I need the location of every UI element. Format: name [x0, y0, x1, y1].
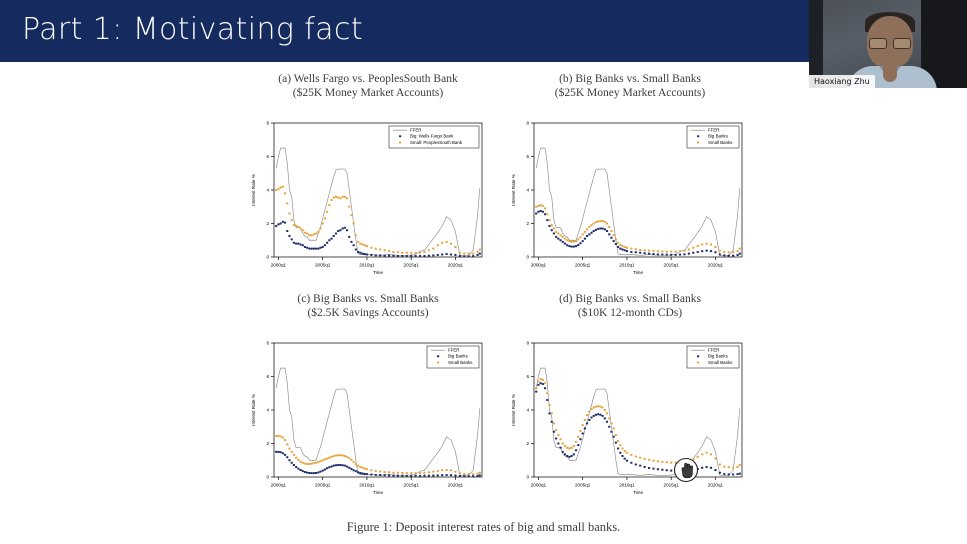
series-marker-small	[630, 248, 632, 250]
series-marker-small	[364, 244, 366, 246]
series-marker-big	[577, 444, 579, 446]
series-marker-small	[648, 250, 650, 252]
figure-container: (a) Wells Fargo vs. PeoplesSouth Bank ($…	[0, 62, 967, 544]
series-marker-small	[293, 224, 295, 226]
y-tick-label: 6	[526, 374, 529, 379]
series-marker-small	[648, 459, 650, 461]
legend-label: Small Banks	[708, 360, 733, 365]
series-marker-small	[624, 246, 626, 248]
series-marker-big	[463, 475, 465, 477]
series-marker-big	[719, 253, 721, 255]
series-marker-small	[661, 461, 663, 463]
series-marker-small	[476, 251, 478, 253]
chart-svg-d: 02468Interest Rate %2000q12005q12010q120…	[508, 337, 748, 499]
series-marker-small	[575, 240, 577, 242]
series-marker-small	[688, 248, 690, 250]
series-marker-small	[288, 448, 290, 450]
series-marker-big	[608, 426, 610, 428]
series-marker-small	[635, 248, 637, 250]
x-tick-label: 2015q1	[664, 483, 680, 488]
series-marker-big	[615, 442, 617, 444]
series-marker-big	[370, 254, 372, 256]
series-marker-big	[335, 464, 337, 466]
series-marker-big	[441, 474, 443, 476]
series-marker-big	[679, 254, 681, 256]
series-marker-small	[302, 462, 304, 464]
chart-svg-c: 02468Interest Rate %2000q12005q12010q120…	[248, 337, 488, 499]
series-marker-big	[548, 412, 550, 414]
legend-swatch-big	[399, 135, 401, 137]
series-marker-small	[315, 462, 317, 464]
series-marker-small	[739, 248, 741, 250]
series-marker-small	[423, 251, 425, 253]
series-marker-small	[582, 424, 584, 426]
series-marker-big	[330, 465, 332, 467]
series-marker-big	[644, 252, 646, 254]
legend-swatch-big	[697, 135, 699, 137]
series-marker-big	[666, 469, 668, 471]
y-tick-label: 0	[266, 255, 269, 260]
series-marker-big	[280, 223, 282, 225]
series-marker-small	[344, 455, 346, 457]
series-marker-small	[337, 454, 339, 456]
series-marker-big	[355, 248, 357, 250]
chart-panel-a[interactable]: 02468Interest Rate %2000q12005q12010q120…	[248, 117, 488, 279]
series-marker-small	[590, 408, 592, 410]
series-marker-big	[652, 468, 654, 470]
series-marker-small	[335, 455, 337, 457]
x-tick-label: 2000q1	[531, 263, 547, 268]
series-marker-small	[346, 197, 348, 199]
series-marker-small	[606, 223, 608, 225]
series-marker-big	[446, 474, 448, 476]
subplot-caption-b-line2: ($25K Money Market Accounts)	[505, 86, 755, 100]
series-marker-big	[557, 238, 559, 240]
subplot-caption-c-line2: ($2.5K Savings Accounts)	[243, 306, 493, 320]
series-marker-big	[401, 255, 403, 257]
series-marker-small	[313, 233, 315, 235]
series-marker-small	[566, 239, 568, 241]
series-marker-small	[571, 447, 573, 449]
series-marker-small	[559, 438, 561, 440]
chart-panel-c[interactable]: 02468Interest Rate %2000q12005q12010q120…	[248, 337, 488, 499]
series-marker-small	[346, 456, 348, 458]
series-marker-big	[588, 233, 590, 235]
x-tick-label: 2000q1	[531, 483, 547, 488]
series-marker-big	[306, 472, 308, 474]
series-marker-small	[339, 197, 341, 199]
chart-panel-d[interactable]: 02468Interest Rate %2000q12005q12010q120…	[508, 337, 748, 499]
y-tick-label: 0	[526, 255, 529, 260]
series-marker-big	[350, 468, 352, 470]
series-marker-big	[606, 230, 608, 232]
series-marker-big	[419, 255, 421, 257]
series-marker-small	[675, 251, 677, 253]
series-marker-small	[670, 251, 672, 253]
y-tick-label: 6	[266, 374, 269, 379]
series-marker-small	[288, 212, 290, 214]
series-marker-small	[604, 221, 606, 223]
series-marker-small	[590, 224, 592, 226]
series-marker-big	[364, 253, 366, 255]
series-marker-small	[384, 471, 386, 473]
series-marker-small	[546, 213, 548, 215]
series-marker-small	[472, 473, 474, 475]
series-marker-small	[333, 455, 335, 457]
series-marker-small	[370, 247, 372, 249]
series-marker-big	[688, 470, 690, 472]
series-marker-big	[293, 242, 295, 244]
series-marker-small	[459, 252, 461, 254]
series-marker-big	[577, 244, 579, 246]
series-marker-big	[548, 225, 550, 227]
series-marker-small	[557, 434, 559, 436]
series-marker-big	[675, 254, 677, 256]
series-marker-big	[714, 469, 716, 471]
series-marker-small	[295, 457, 297, 459]
series-marker-small	[353, 223, 355, 225]
series-marker-small	[361, 243, 363, 245]
x-tick-label: 2000q1	[271, 263, 287, 268]
series-marker-big	[446, 253, 448, 255]
legend-swatch-big	[697, 355, 699, 357]
series-marker-small	[315, 233, 317, 235]
series-marker-small	[710, 243, 712, 245]
series-marker-small	[597, 220, 599, 222]
legend-label: Big Banks	[708, 134, 729, 139]
series-marker-big	[593, 230, 595, 232]
series-marker-big	[392, 474, 394, 476]
chart-svg-b: 02468Interest Rate %2000q12005q12010q120…	[508, 117, 748, 279]
series-marker-big	[288, 459, 290, 461]
series-marker-big	[692, 252, 694, 254]
series-marker-big	[280, 451, 282, 453]
series-marker-big	[284, 454, 286, 456]
x-axis-title: Time	[633, 270, 643, 275]
series-marker-small	[423, 472, 425, 474]
series-marker-big	[328, 239, 330, 241]
y-axis-title: Interest Rate %	[251, 394, 256, 426]
series-marker-small	[397, 251, 399, 253]
series-marker-small	[275, 435, 277, 437]
y-tick-label: 8	[526, 121, 529, 126]
series-marker-small	[679, 462, 681, 464]
series-marker-big	[454, 254, 456, 256]
series-marker-big	[330, 238, 332, 240]
series-marker-small	[661, 250, 663, 252]
series-marker-big	[302, 470, 304, 472]
series-marker-small	[542, 379, 544, 381]
series-marker-big	[286, 230, 288, 232]
x-tick-label: 2010q1	[619, 263, 635, 268]
series-marker-small	[593, 406, 595, 408]
series-marker-big	[308, 248, 310, 250]
y-tick-label: 8	[266, 341, 269, 346]
series-marker-small	[692, 247, 694, 249]
series-marker-big	[353, 244, 355, 246]
series-marker-big	[602, 228, 604, 230]
y-tick-label: 4	[526, 408, 529, 413]
series-marker-small	[359, 466, 361, 468]
series-marker-small	[419, 472, 421, 474]
series-marker-big	[384, 474, 386, 476]
series-marker-big	[415, 475, 417, 477]
series-marker-big	[339, 229, 341, 231]
series-marker-small	[723, 466, 725, 468]
series-marker-small	[401, 472, 403, 474]
series-marker-big	[333, 465, 335, 467]
series-marker-big	[397, 475, 399, 477]
series-marker-big	[432, 254, 434, 256]
series-marker-small	[544, 207, 546, 209]
series-marker-big	[604, 228, 606, 230]
series-marker-big	[284, 222, 286, 224]
series-marker-big	[277, 451, 279, 453]
x-tick-label: 2010q1	[359, 263, 375, 268]
y-tick-label: 8	[266, 121, 269, 126]
series-marker-small	[615, 238, 617, 240]
series-marker-small	[739, 464, 741, 466]
series-marker-big	[344, 465, 346, 467]
series-marker-small	[410, 472, 412, 474]
y-tick-label: 0	[526, 475, 529, 480]
series-marker-big	[322, 470, 324, 472]
series-marker-small	[606, 412, 608, 414]
series-marker-small	[732, 467, 734, 469]
series-marker-big	[339, 464, 341, 466]
series-marker-big	[666, 254, 668, 256]
series-marker-big	[342, 228, 344, 230]
series-marker-big	[610, 431, 612, 433]
series-marker-small	[564, 445, 566, 447]
series-marker-big	[415, 255, 417, 257]
series-marker-small	[348, 206, 350, 208]
series-marker-big	[311, 248, 313, 250]
series-marker-big	[657, 468, 659, 470]
series-marker-big	[586, 235, 588, 237]
series-marker-small	[683, 250, 685, 252]
series-marker-small	[562, 236, 564, 238]
x-tick-label: 2005q1	[315, 483, 331, 488]
series-marker-big	[355, 470, 357, 472]
series-marker-big	[342, 464, 344, 466]
series-marker-big	[437, 474, 439, 476]
series-marker-big	[319, 471, 321, 473]
series-marker-big	[324, 244, 326, 246]
legend-swatch-small	[697, 362, 699, 364]
series-marker-big	[546, 219, 548, 221]
series-marker-small	[335, 196, 337, 198]
series-marker-small	[535, 206, 537, 208]
series-marker-small	[719, 250, 721, 252]
series-marker-big	[346, 466, 348, 468]
series-marker-big	[706, 250, 708, 252]
x-tick-label: 2015q1	[404, 263, 420, 268]
series-marker-big	[282, 221, 284, 223]
series-marker-big	[597, 228, 599, 230]
series-marker-small	[275, 189, 277, 191]
series-marker-small	[573, 241, 575, 243]
series-marker-big	[575, 449, 577, 451]
series-marker-small	[586, 414, 588, 416]
series-marker-big	[670, 254, 672, 256]
series-marker-small	[415, 252, 417, 254]
series-marker-big	[584, 427, 586, 429]
series-marker-big	[315, 248, 317, 250]
series-marker-big	[736, 473, 738, 475]
series-marker-big	[586, 422, 588, 424]
series-marker-big	[619, 452, 621, 454]
series-marker-small	[710, 453, 712, 455]
series-marker-small	[595, 406, 597, 408]
series-marker-big	[423, 255, 425, 257]
series-marker-big	[388, 474, 390, 476]
series-marker-small	[692, 458, 694, 460]
series-marker-big	[361, 253, 363, 255]
series-marker-big	[537, 384, 539, 386]
series-marker-small	[610, 422, 612, 424]
series-marker-small	[621, 448, 623, 450]
series-marker-small	[366, 245, 368, 247]
series-marker-small	[630, 454, 632, 456]
series-marker-big	[275, 225, 277, 227]
series-marker-big	[295, 466, 297, 468]
subplot-caption-a-line2: ($25K Money Market Accounts)	[243, 86, 493, 100]
series-marker-big	[410, 475, 412, 477]
y-tick-label: 2	[526, 441, 529, 446]
x-axis-title: Time	[373, 270, 383, 275]
series-marker-small	[546, 392, 548, 394]
series-marker-small	[333, 197, 335, 199]
series-marker-small	[540, 378, 542, 380]
series-marker-big	[406, 475, 408, 477]
series-marker-big	[326, 467, 328, 469]
chart-panel-b[interactable]: 02468Interest Rate %2000q12005q12010q120…	[508, 117, 748, 279]
series-marker-big	[619, 248, 621, 250]
series-marker-big	[626, 460, 628, 462]
series-marker-big	[575, 245, 577, 247]
series-marker-big	[624, 458, 626, 460]
series-marker-big	[333, 235, 335, 237]
series-marker-big	[299, 243, 301, 245]
series-marker-big	[353, 469, 355, 471]
series-marker-small	[639, 457, 641, 459]
series-marker-small	[348, 457, 350, 459]
series-marker-small	[410, 252, 412, 254]
series-marker-small	[366, 468, 368, 470]
series-marker-big	[304, 246, 306, 248]
series-marker-big	[606, 421, 608, 423]
series-marker-small	[441, 469, 443, 471]
series-marker-small	[714, 246, 716, 248]
series-marker-small	[406, 252, 408, 254]
series-marker-small	[297, 459, 299, 461]
x-tick-label: 2010q1	[359, 483, 375, 488]
series-marker-big	[551, 421, 553, 423]
series-marker-small	[463, 253, 465, 255]
series-marker-small	[586, 228, 588, 230]
series-marker-big	[582, 240, 584, 242]
series-marker-small	[428, 471, 430, 473]
series-marker-small	[392, 251, 394, 253]
series-marker-small	[548, 404, 550, 406]
y-tick-label: 4	[526, 188, 529, 193]
series-marker-small	[328, 457, 330, 459]
series-marker-big	[432, 474, 434, 476]
series-marker-small	[388, 471, 390, 473]
series-marker-small	[308, 463, 310, 465]
series-marker-small	[468, 473, 470, 475]
x-axis-title: Time	[373, 490, 383, 495]
series-marker-big	[291, 462, 293, 464]
series-marker-big	[388, 255, 390, 257]
y-axis-title: Interest Rate %	[511, 394, 516, 426]
series-marker-small	[361, 467, 363, 469]
series-marker-small	[342, 196, 344, 198]
series-marker-small	[319, 460, 321, 462]
series-marker-small	[277, 188, 279, 190]
series-marker-big	[602, 415, 604, 417]
series-marker-small	[675, 462, 677, 464]
series-marker-big	[454, 474, 456, 476]
x-tick-label: 2015q1	[664, 263, 680, 268]
series-marker-big	[297, 468, 299, 470]
series-marker-big	[476, 254, 478, 256]
series-marker-small	[317, 461, 319, 463]
series-marker-big	[302, 244, 304, 246]
series-marker-small	[615, 434, 617, 436]
series-marker-small	[324, 458, 326, 460]
series-marker-big	[566, 244, 568, 246]
series-marker-big	[571, 246, 573, 248]
y-axis-title: Interest Rate %	[251, 174, 256, 206]
series-marker-small	[719, 463, 721, 465]
series-marker-big	[295, 243, 297, 245]
series-marker-small	[441, 242, 443, 244]
series-marker-small	[450, 243, 452, 245]
series-marker-small	[324, 217, 326, 219]
series-marker-big	[613, 436, 615, 438]
series-marker-big	[324, 468, 326, 470]
series-marker-big	[697, 251, 699, 253]
series-marker-big	[626, 250, 628, 252]
series-marker-big	[683, 470, 685, 472]
series-marker-small	[437, 244, 439, 246]
series-marker-small	[544, 382, 546, 384]
series-marker-small	[401, 252, 403, 254]
series-marker-small	[319, 228, 321, 230]
series-marker-small	[297, 226, 299, 228]
series-marker-big	[282, 452, 284, 454]
series-marker-small	[599, 220, 601, 222]
series-marker-big	[437, 254, 439, 256]
series-marker-big	[375, 254, 377, 256]
legend-label: FFER	[708, 128, 719, 133]
series-marker-small	[584, 231, 586, 233]
series-marker-small	[657, 250, 659, 252]
series-marker-big	[291, 238, 293, 240]
subplot-caption-d-line1: (d) Big Banks vs. Small Banks	[505, 292, 755, 306]
y-tick-label: 2	[526, 221, 529, 226]
series-marker-big	[472, 255, 474, 257]
series-marker-small	[535, 387, 537, 389]
series-marker-small	[313, 462, 315, 464]
series-marker-big	[590, 232, 592, 234]
series-marker-big	[608, 233, 610, 235]
series-marker-small	[557, 233, 559, 235]
series-marker-big	[604, 417, 606, 419]
series-marker-big	[542, 383, 544, 385]
